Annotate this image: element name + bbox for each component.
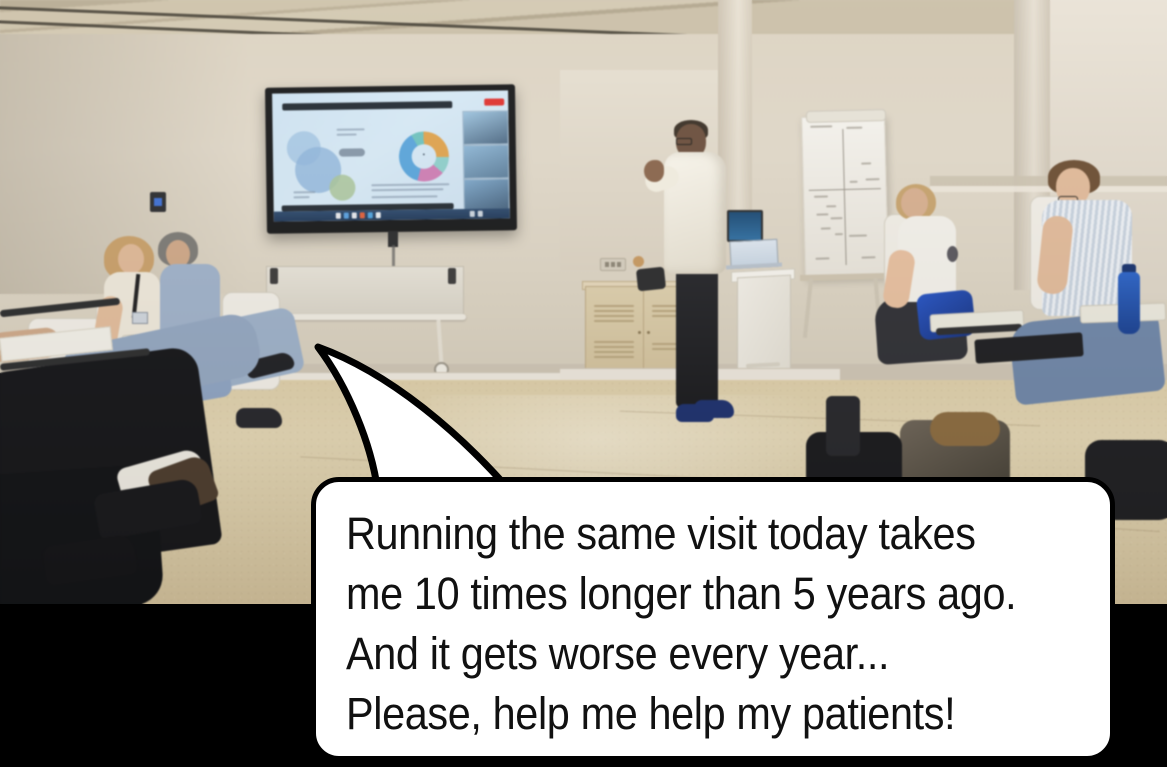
speech-bubble: Running the same visit today takes me 10…	[311, 477, 1115, 761]
slide-donut-center-label: ●	[410, 151, 438, 156]
participant-head	[901, 188, 928, 218]
wall-mounted-disc	[633, 256, 644, 267]
flipchart-note	[861, 162, 871, 164]
slide-text	[293, 191, 315, 193]
video-tile	[462, 110, 508, 145]
slide-title-bar	[282, 101, 452, 110]
flipchart-note	[816, 213, 828, 215]
slide-text	[337, 133, 357, 135]
arm-tattoo	[947, 246, 958, 262]
flipchart-board	[801, 115, 889, 279]
table-top	[266, 266, 464, 320]
table-bracket	[270, 268, 278, 284]
rolling-case	[826, 396, 860, 456]
flipchart-note	[814, 195, 828, 197]
slide-text	[372, 195, 438, 198]
video-tile	[463, 144, 509, 179]
table-bracket	[448, 268, 456, 284]
flipchart-axis-vertical	[842, 129, 846, 265]
record-button-icon	[484, 98, 504, 105]
power-socket	[600, 258, 626, 271]
flipchart-note	[866, 178, 880, 180]
slide-text	[337, 128, 365, 130]
flipchart-note	[815, 257, 829, 259]
flipchart-note	[830, 217, 842, 219]
video-call-rail	[462, 98, 508, 217]
slide-text	[294, 196, 310, 198]
flipchart-note	[821, 227, 831, 229]
wall-mounted-tv: ●	[265, 84, 517, 233]
slide-circle-c	[329, 175, 355, 201]
shoe	[236, 408, 282, 428]
tv-slide-content: ●	[272, 90, 510, 221]
flipchart-note	[826, 205, 836, 207]
presenter-hand	[644, 160, 664, 182]
desk-monitor	[727, 210, 763, 242]
flipchart-note	[846, 127, 862, 129]
windows-taskbar	[274, 208, 510, 221]
slide-pill-label	[339, 148, 365, 156]
speech-bubble-text: Running the same visit today takes me 10…	[346, 504, 1021, 744]
flipchart-note	[861, 256, 875, 258]
presenter-shoe	[694, 400, 734, 418]
flipchart-clamp	[806, 109, 886, 123]
badge	[132, 312, 148, 324]
wall-thermostat-panel	[150, 192, 166, 212]
slide-text	[371, 188, 443, 191]
participant-head	[118, 244, 144, 274]
cabinet-divider	[643, 291, 644, 377]
stored-chair	[636, 267, 666, 292]
table-leg	[436, 320, 443, 366]
backpack-strap	[930, 412, 1000, 446]
presenter-legs	[676, 266, 718, 408]
slide-text	[371, 183, 449, 186]
blue-water-bottle	[1118, 272, 1140, 334]
screenshot-canvas: ●	[0, 0, 1167, 767]
glasses-icon	[676, 138, 692, 145]
flipchart-note	[835, 233, 843, 235]
flipchart-note	[810, 125, 832, 127]
flipchart-note	[849, 234, 867, 236]
flipchart-note	[850, 181, 858, 183]
